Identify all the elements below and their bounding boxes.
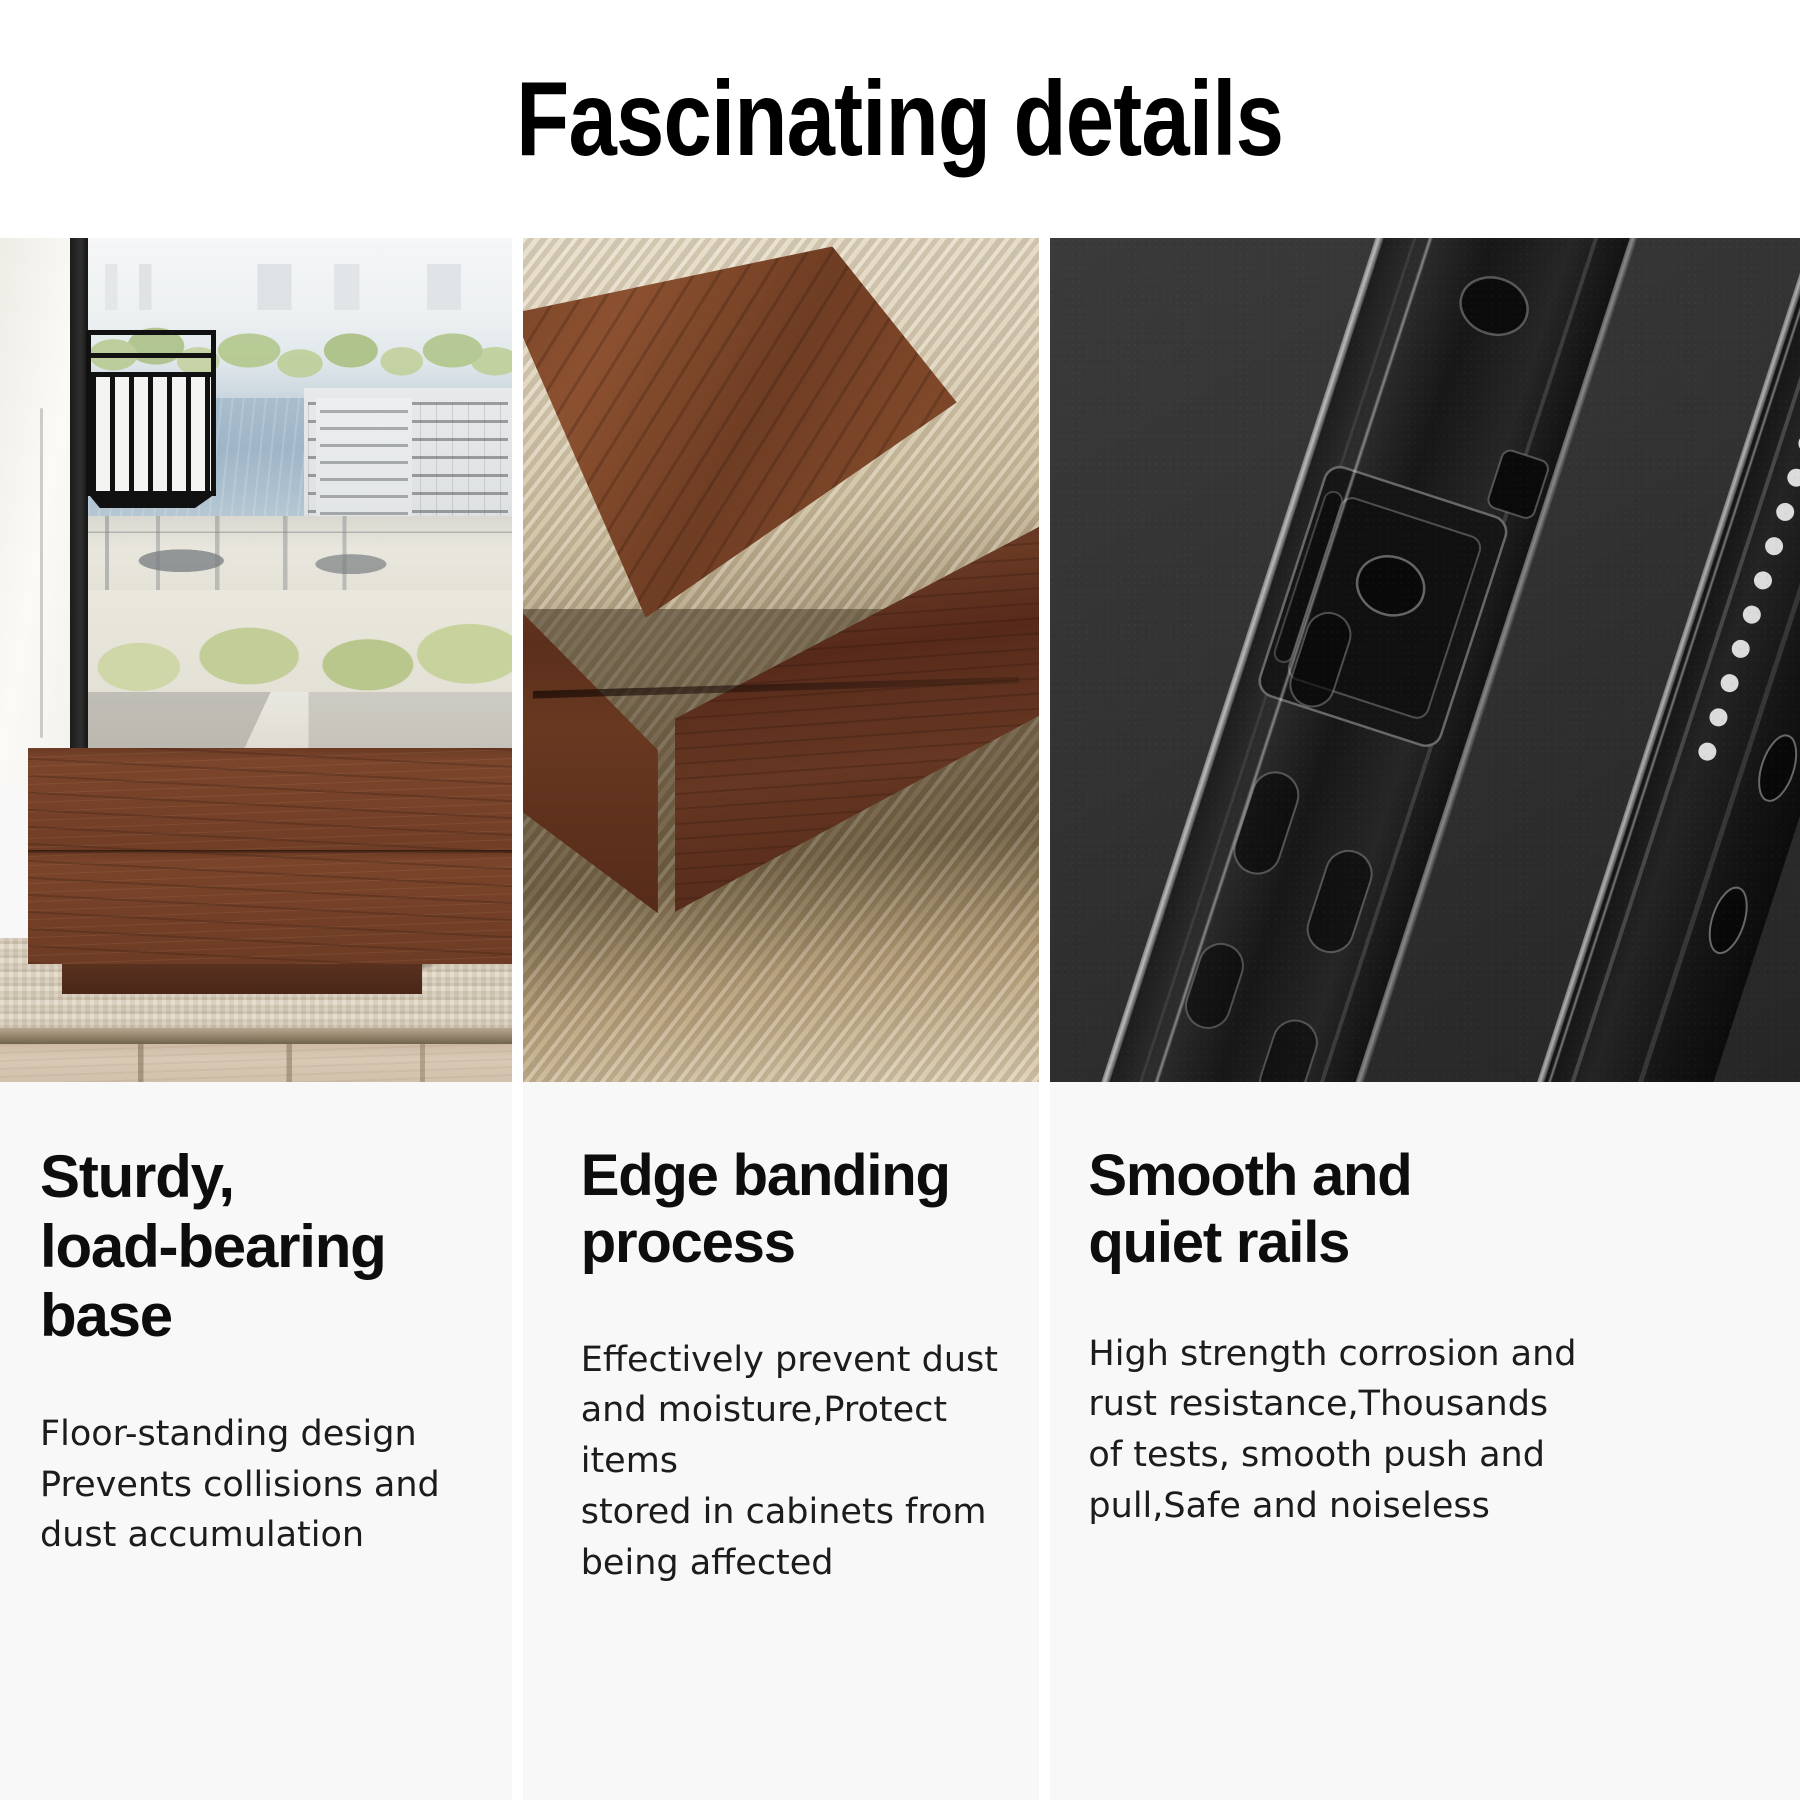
rails-illustration	[1050, 238, 1800, 1082]
railing-slat-panel	[86, 372, 216, 496]
feature-columns: Sturdy, load-bearing base Floor-standing…	[0, 238, 1800, 1800]
page-header: Fascinating details	[0, 0, 1800, 238]
interior-wall-left	[0, 238, 72, 786]
feature-description: High strength corrosion and rust resista…	[1088, 1329, 1772, 1532]
box-top-surface	[523, 246, 957, 617]
walnut-cabinet-body	[28, 748, 512, 964]
walnut-box-corner-photo	[523, 238, 1040, 1082]
feature-description: Floor-standing design Prevents collision…	[40, 1409, 482, 1561]
box-side-face	[667, 508, 1039, 947]
feature-heading: Smooth and quiet rails	[1088, 1142, 1772, 1277]
walnut-box	[523, 238, 1040, 1082]
feature-text-edge-banding: Edge banding process Effectively prevent…	[523, 1082, 1040, 1800]
feature-card-smooth-rails: Smooth and quiet rails High strength cor…	[1050, 238, 1800, 1800]
balcony-railing	[86, 330, 216, 506]
walnut-cabinet-by-window-photo	[0, 238, 512, 1082]
foreground-trees	[88, 590, 512, 700]
window-mullion	[70, 238, 88, 786]
feature-text-smooth-rails: Smooth and quiet rails High strength cor…	[1050, 1082, 1800, 1800]
page-title: Fascinating details	[517, 66, 1284, 172]
feature-text-sturdy-base: Sturdy, load-bearing base Floor-standing…	[0, 1082, 512, 1800]
feature-card-sturdy-base: Sturdy, load-bearing base Floor-standing…	[0, 238, 512, 1800]
black-drawer-slide-rails-photo	[1050, 238, 1800, 1082]
wood-floor	[0, 1044, 512, 1082]
product-detail-infographic: Fascinating details	[0, 0, 1800, 1800]
dark-backdrop	[1050, 238, 1800, 1082]
cabinet-plinth	[62, 960, 422, 994]
feature-heading: Edge banding process	[581, 1142, 1018, 1277]
feature-description: Effectively prevent dust and moisture,Pr…	[581, 1335, 1018, 1589]
railing-top-frame	[86, 330, 216, 372]
feature-card-edge-banding: Edge banding process Effectively prevent…	[523, 238, 1040, 1800]
railing-underside	[90, 496, 212, 508]
feature-heading: Sturdy, load-bearing base	[40, 1142, 482, 1351]
